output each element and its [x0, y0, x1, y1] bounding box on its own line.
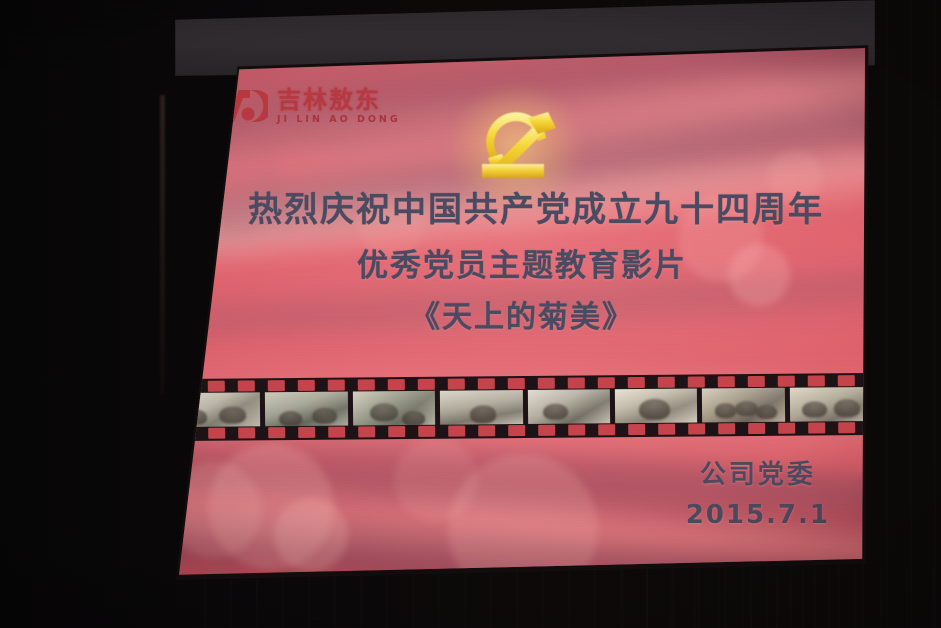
- film-sprocket: [778, 423, 795, 434]
- film-sprocket: [808, 422, 825, 433]
- film-sprocket: [718, 423, 735, 434]
- film-sprocket: [238, 427, 255, 438]
- film-frame-wash: [702, 388, 785, 423]
- film-sprocket: [628, 377, 645, 388]
- film-frame-wash: [440, 390, 523, 425]
- bokeh-circle: [394, 438, 478, 522]
- film-sprocket: [508, 425, 525, 436]
- film-frame-wash: [353, 391, 436, 426]
- signature-date: 2015.7.1: [686, 498, 830, 532]
- film-sprocket: [688, 376, 705, 387]
- film-sprocket: [208, 428, 225, 439]
- film-sprocket: [388, 426, 405, 437]
- film-sprocket: [388, 379, 405, 390]
- film-sprocket: [658, 424, 675, 435]
- film-sprocket: [808, 375, 825, 386]
- film-sprocket: [238, 380, 255, 391]
- film-sprocket: [538, 378, 555, 389]
- film-sprocket: [418, 426, 435, 437]
- film-frame: [615, 388, 698, 423]
- film-sprocket: [838, 375, 855, 386]
- film-sprocket: [418, 379, 435, 390]
- projection-screen[interactable]: 吉林敖东 JI LIN AO DONG: [172, 46, 872, 578]
- film-sprocket: [568, 424, 585, 435]
- film-frame-wash: [265, 392, 348, 427]
- film-sprocket: [628, 424, 645, 435]
- film-sprocket: [328, 427, 345, 438]
- film-sprocket: [478, 425, 495, 436]
- slide-film-title: 《天上的菊美》: [172, 296, 872, 340]
- film-sprocket: [718, 376, 735, 387]
- logo-pinyin-name: JI LIN AO DONG: [277, 115, 401, 125]
- film-sprocket: [598, 377, 615, 388]
- film-sprocket: [748, 376, 765, 387]
- film-sprocket: [448, 379, 465, 390]
- slide-title-line-1: 热烈庆祝中国共产党成立九十四周年: [200, 188, 872, 232]
- film-frame-wash: [615, 388, 698, 423]
- film-sprocket: [268, 380, 285, 391]
- signature-organization: 公司党委: [686, 458, 830, 492]
- presentation-slide: 吉林敖东 JI LIN AO DONG: [172, 46, 872, 578]
- bokeh-circle: [448, 454, 598, 578]
- film-sprocket: [568, 377, 585, 388]
- logo-wordmark: 吉林敖东 JI LIN AO DONG: [277, 88, 401, 125]
- film-sprocket: [598, 424, 615, 435]
- door-light-sliver: [160, 95, 165, 395]
- film-sprocket: [778, 376, 795, 387]
- film-sprocket: [448, 426, 465, 437]
- film-sprocket: [538, 425, 555, 436]
- film-sprocket: [508, 378, 525, 389]
- film-sprocket: [208, 381, 225, 392]
- film-frame: [353, 391, 436, 426]
- film-sprocket: [298, 380, 315, 391]
- film-strip: [178, 373, 872, 441]
- slide-signature: 公司党委 2015.7.1: [686, 458, 830, 532]
- film-sprocket: [478, 378, 495, 389]
- slide-title-block: 热烈庆祝中国共产党成立九十四周年 优秀党员主题教育影片 《天上的菊美》: [172, 188, 872, 340]
- film-frame: [265, 392, 348, 427]
- film-frame: [789, 387, 872, 422]
- film-sprocket: [268, 427, 285, 438]
- logo-chinese-name: 吉林敖东: [277, 88, 401, 112]
- film-frame: [527, 389, 610, 424]
- hammer-and-sickle-emblem: [468, 108, 564, 186]
- film-sprocket: [358, 379, 375, 390]
- film-frame-wash: [527, 389, 610, 424]
- bokeh-circle: [274, 498, 348, 572]
- film-sprocket: [358, 426, 375, 437]
- film-sprocket: [658, 377, 675, 388]
- film-frame: [440, 390, 523, 425]
- film-sprocket: [688, 423, 705, 434]
- film-frame-wash: [789, 387, 872, 422]
- film-sprocket: [328, 380, 345, 391]
- film-sprocket: [298, 427, 315, 438]
- bokeh-circle: [208, 444, 334, 570]
- film-frames: [178, 387, 872, 427]
- slide-title-line-2: 优秀党员主题教育影片: [172, 244, 872, 288]
- film-sprocket: [748, 423, 765, 434]
- film-frame: [702, 388, 785, 423]
- film-sprocket: [838, 422, 855, 433]
- company-logo: 吉林敖东 JI LIN AO DONG: [224, 88, 401, 125]
